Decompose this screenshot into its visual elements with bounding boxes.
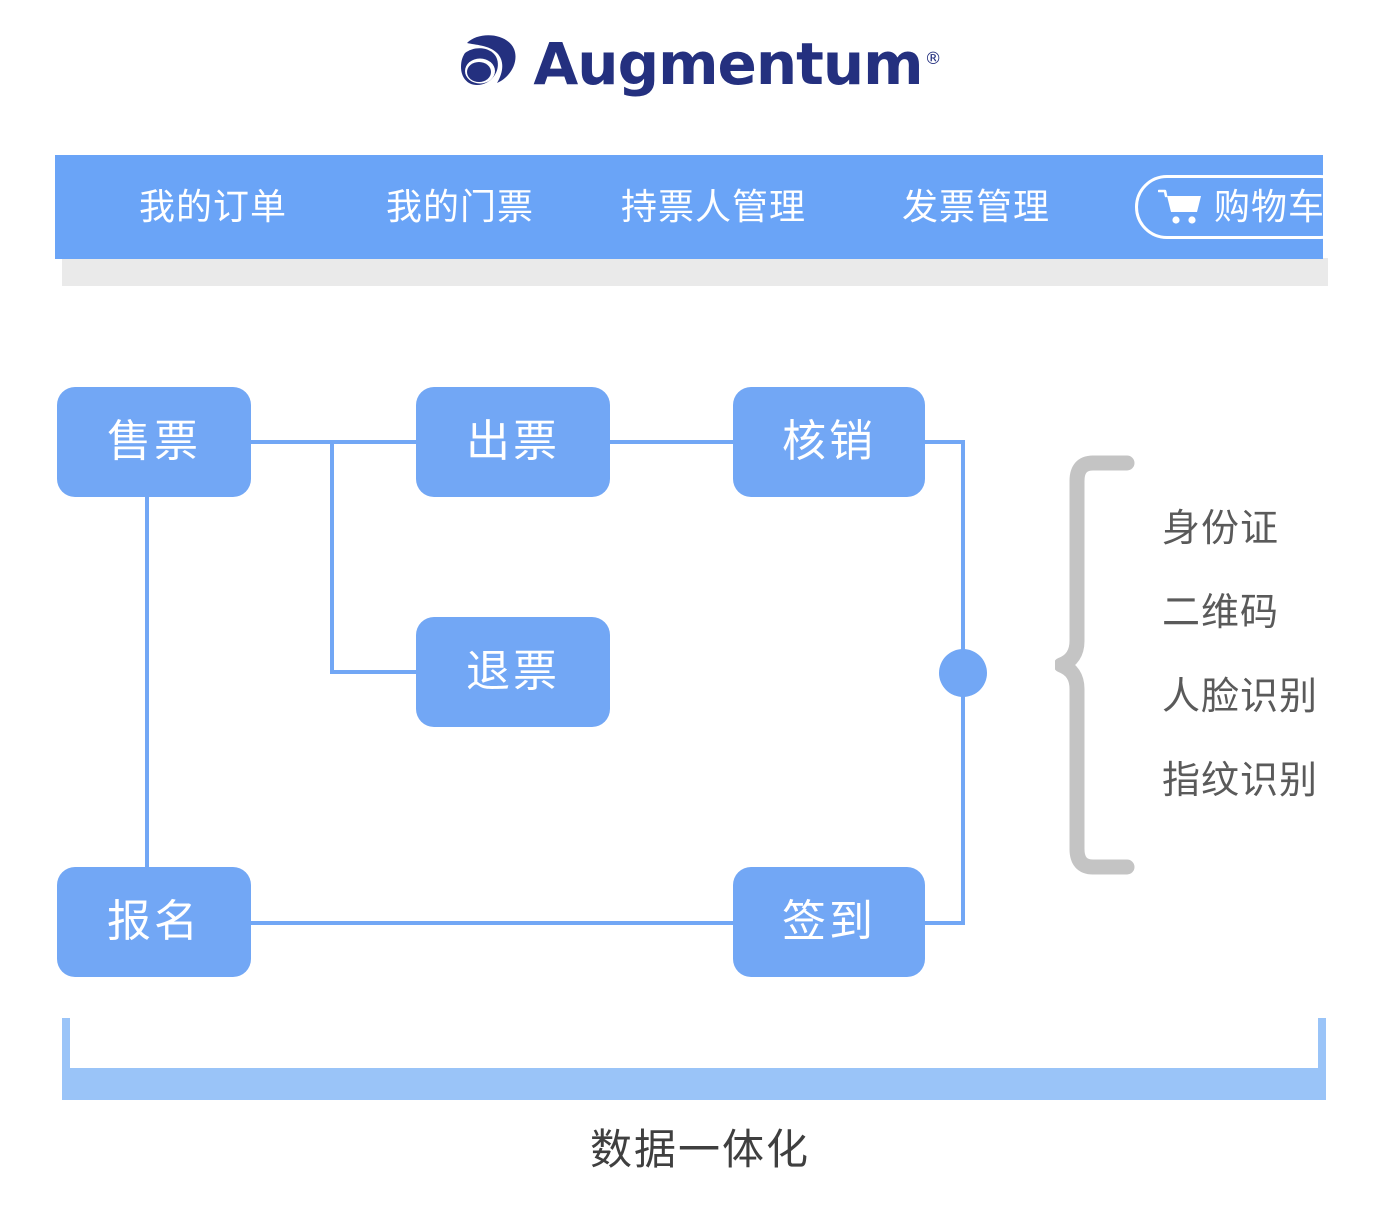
flow-box-label: 核销 (782, 420, 876, 464)
flow-box-registration[interactable]: 报名 (57, 867, 251, 977)
shopping-cart-icon (1158, 189, 1202, 225)
verification-node-dot (939, 649, 987, 697)
nav-item-ticket-holder-management[interactable]: 持票人管理 (621, 189, 806, 225)
connector-hexiao-to-rail (925, 440, 965, 444)
connector-branch-to-tuipiao (330, 670, 418, 674)
verification-method-qr-code: 二维码 (1162, 594, 1382, 632)
nav-item-my-orders[interactable]: 我的订单 (139, 189, 287, 225)
augmentum-swoosh-icon (459, 33, 519, 95)
connector-baoming-to-qiandao (251, 921, 735, 925)
shopping-cart-label: 购物车 (1214, 189, 1325, 225)
connector-shoupiao-to-baoming (145, 497, 149, 867)
shopping-cart-button[interactable]: 购物车 (1135, 175, 1352, 239)
flow-box-label: 报名 (107, 900, 201, 944)
verification-method-face-recognition: 人脸识别 (1162, 678, 1382, 716)
connector-chupiao-to-hexiao (610, 440, 735, 444)
bottom-caption-data-integration: 数据一体化 (0, 1125, 1400, 1175)
verification-method-id-card: 身份证 (1162, 510, 1382, 548)
flow-box-ticket-sales[interactable]: 售票 (57, 387, 251, 497)
main-navigation-bar: 我的订单 我的门票 持票人管理 发票管理 购物车 (55, 155, 1323, 259)
flow-box-redemption[interactable]: 核销 (733, 387, 925, 497)
flow-box-label: 退票 (466, 650, 560, 694)
flow-box-ticket-issue[interactable]: 出票 (416, 387, 610, 497)
connector-branch-vertical-to-tuipiao (330, 440, 334, 672)
flow-box-ticket-refund[interactable]: 退票 (416, 617, 610, 727)
registered-trademark-icon: ® (925, 49, 941, 69)
verification-methods-list: 身份证 二维码 人脸识别 指纹识别 (1162, 510, 1382, 800)
bottom-bracket-tick-right (1318, 1018, 1326, 1070)
bottom-bracket-tick-left (62, 1018, 70, 1070)
flow-box-label: 售票 (107, 420, 201, 464)
wordmark-text: Augmentum (533, 30, 922, 98)
curly-brace-icon (1055, 455, 1141, 875)
verification-method-fingerprint-recognition: 指纹识别 (1162, 762, 1382, 800)
bottom-integration-bar (62, 1068, 1326, 1100)
connector-shoupiao-to-chupiao (251, 440, 418, 444)
nav-shadow-strip (62, 258, 1328, 286)
connector-rail-to-qiandao (925, 921, 965, 925)
flow-box-label: 出票 (466, 420, 560, 464)
flow-box-check-in[interactable]: 签到 (733, 867, 925, 977)
page-root: Augmentum® 我的订单 我的门票 持票人管理 发票管理 购物车 (0, 0, 1400, 1216)
nav-item-my-tickets[interactable]: 我的门票 (386, 189, 534, 225)
brand-logo: Augmentum® (0, 18, 1400, 110)
nav-item-invoice-management[interactable]: 发票管理 (902, 189, 1050, 225)
brand-wordmark: Augmentum® (533, 35, 940, 93)
flow-box-label: 签到 (782, 900, 876, 944)
